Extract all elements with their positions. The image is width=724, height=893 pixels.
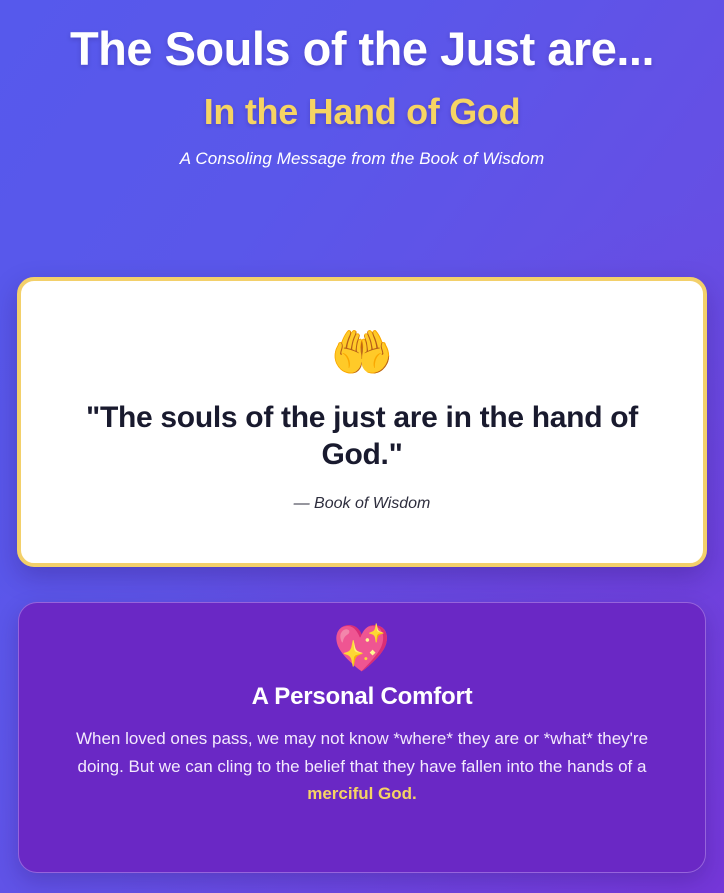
palms-up-together-icon: 🤲 — [330, 327, 394, 378]
comfort-body-text: When loved ones pass, we may not know *w… — [76, 729, 648, 776]
header-section: The Souls of the Just are... In the Hand… — [0, 0, 724, 169]
sparkling-heart-icon: 💖 — [333, 625, 390, 671]
quote-text: "The souls of the just are in the hand o… — [55, 400, 669, 473]
page-tagline: A Consoling Message from the Book of Wis… — [20, 149, 704, 169]
quote-attribution: — Book of Wisdom — [294, 495, 431, 513]
page-subtitle-gold: In the Hand of God — [20, 91, 704, 132]
quote-card: 🤲 "The souls of the just are in the hand… — [17, 277, 707, 567]
comfort-card-heading: A Personal Comfort — [252, 683, 473, 711]
page-title: The Souls of the Just are... — [20, 22, 704, 77]
comfort-card-body: When loved ones pass, we may not know *w… — [59, 725, 665, 808]
comfort-body-highlight: merciful God. — [307, 784, 417, 803]
personal-comfort-card: 💖 A Personal Comfort When loved ones pas… — [18, 602, 706, 873]
slide-root: The Souls of the Just are... In the Hand… — [0, 0, 724, 893]
